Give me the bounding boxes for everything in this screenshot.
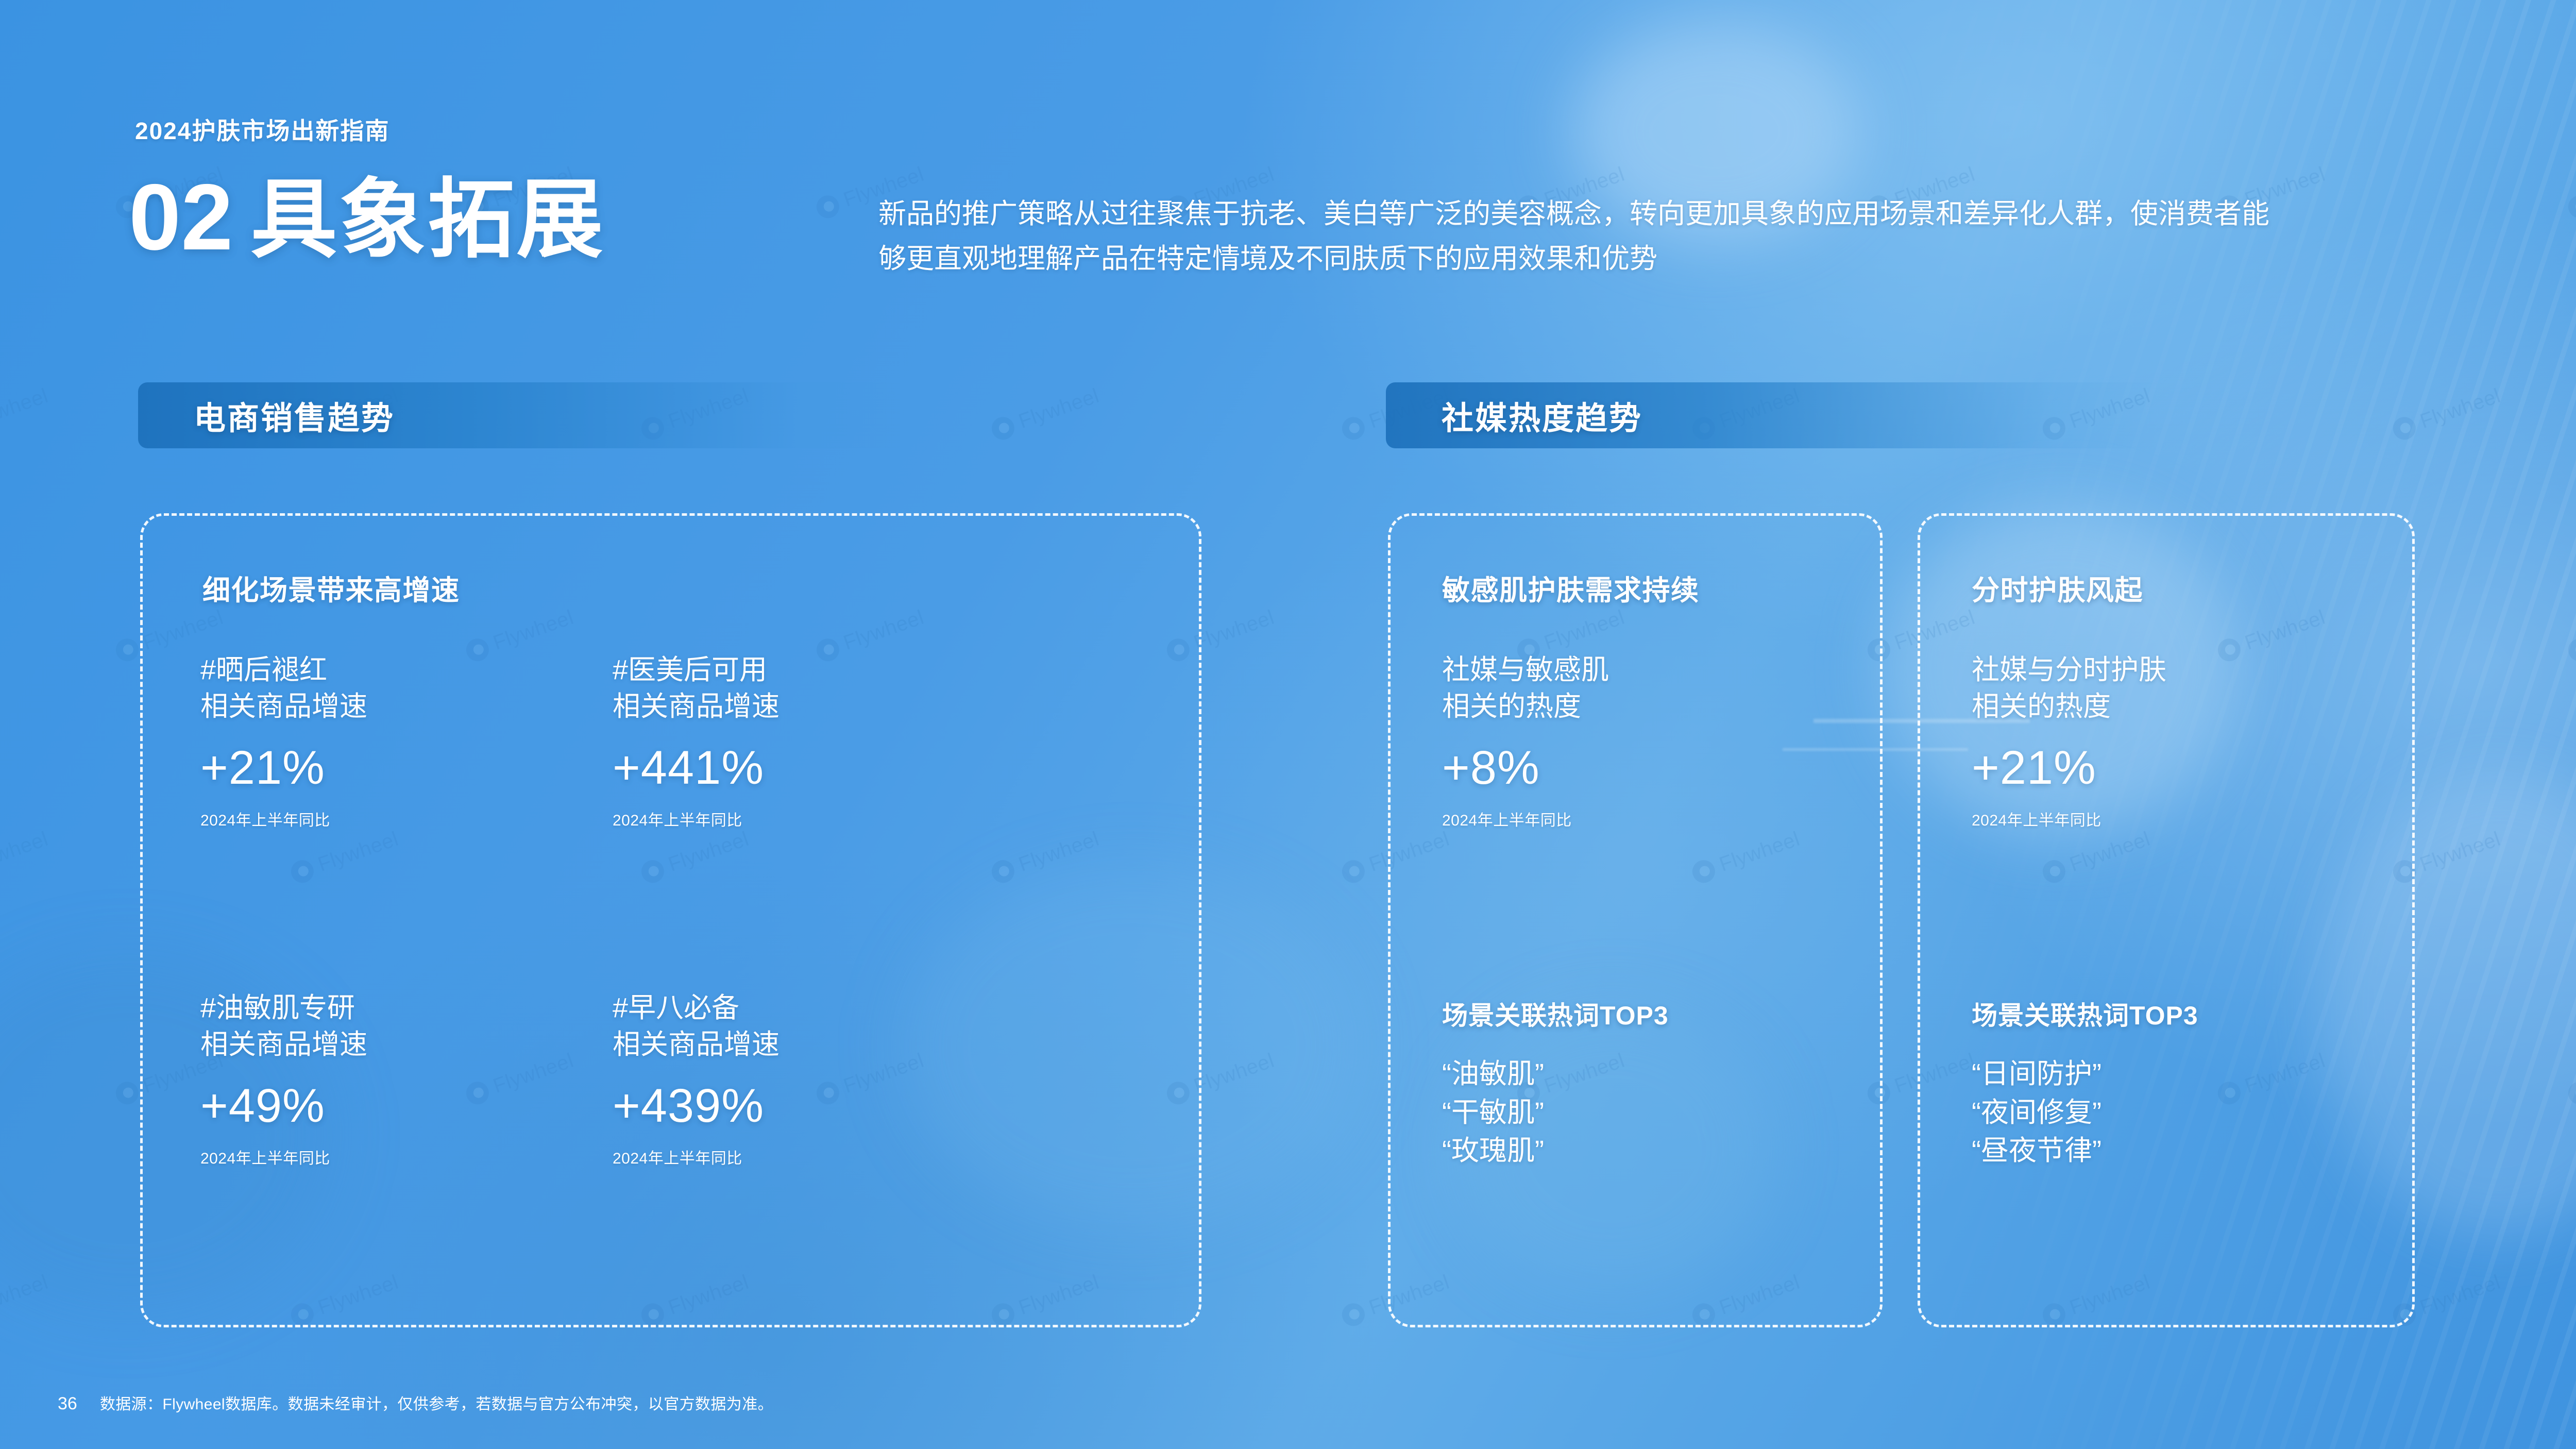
metric-value: +8% <box>1442 741 1609 795</box>
card-title: 细化场景带来高增速 <box>202 567 460 608</box>
metric-value: +439% <box>613 1079 779 1133</box>
metric-note: 2024年上半年同比 <box>200 807 367 830</box>
metric-label: #医美后可用 相关商品增速 <box>613 652 779 726</box>
page-footer: 36 数据源：Flywheel数据库。数据未经审计，仅供参考，若数据与官方公布冲… <box>58 1391 773 1414</box>
metric-value: +21% <box>1972 741 2166 795</box>
metric-value: +49% <box>200 1079 367 1133</box>
section-description: 新品的推广策略从过往聚焦于抗老、美白等广泛的美容概念，转向更加具象的应用场景和差… <box>878 192 2269 282</box>
metric-value: +21% <box>200 741 367 795</box>
metric-note: 2024年上半年同比 <box>1442 807 1609 830</box>
page-number: 36 <box>58 1394 77 1414</box>
social-trend-card-sensitive-skin: 敏感肌护肤需求持续 社媒与敏感肌 相关的热度 +8% 2024年上半年同比 场景… <box>1388 513 1883 1327</box>
keyword-list: “油敏肌” “干敏肌” “玫瑰肌” <box>1442 1055 1669 1170</box>
section-heading-social: 社媒热度趋势 <box>1386 382 2159 448</box>
keyword-item: “夜间修复” <box>1972 1093 2198 1132</box>
section-heading-ecommerce: 电商销售趋势 <box>138 382 906 448</box>
metric-block: #晒后褪红 相关商品增速 +21% 2024年上半年同比 <box>200 652 367 830</box>
keyword-block-title: 场景关联热词TOP3 <box>1972 995 2198 1032</box>
metric-block: #早八必备 相关商品增速 +439% 2024年上半年同比 <box>613 990 779 1168</box>
card-title: 分时护肤风起 <box>1972 567 2143 608</box>
keyword-item: “昼夜节律” <box>1972 1132 2198 1170</box>
card-title: 敏感肌护肤需求持续 <box>1442 567 1700 608</box>
keyword-block-title: 场景关联热词TOP3 <box>1442 995 1669 1032</box>
metric-label: 社媒与分时护肤 相关的热度 <box>1972 652 2166 726</box>
ecommerce-trend-card: 细化场景带来高增速 #晒后褪红 相关商品增速 +21% 2024年上半年同比 #… <box>140 513 1201 1327</box>
keyword-item: “玫瑰肌” <box>1442 1132 1669 1170</box>
keyword-list: “日间防护” “夜间修复” “昼夜节律” <box>1972 1055 2198 1170</box>
metric-block: 社媒与敏感肌 相关的热度 +8% 2024年上半年同比 <box>1442 652 1609 830</box>
keyword-item: “油敏肌” <box>1442 1055 1669 1093</box>
metric-label: #油敏肌专研 相关商品增速 <box>200 990 367 1064</box>
section-heading-label: 电商销售趋势 <box>138 392 395 439</box>
metric-block: 社媒与分时护肤 相关的热度 +21% 2024年上半年同比 <box>1972 652 2166 830</box>
metric-value: +441% <box>613 741 779 795</box>
metric-note: 2024年上半年同比 <box>613 807 779 830</box>
metric-label: #晒后褪红 相关商品增速 <box>200 652 367 726</box>
section-number: 02 <box>129 170 233 264</box>
keyword-block: 场景关联热词TOP3 “日间防护” “夜间修复” “昼夜节律” <box>1972 995 2198 1170</box>
metric-note: 2024年上半年同比 <box>1972 807 2166 830</box>
metric-label: 社媒与敏感肌 相关的热度 <box>1442 652 1609 726</box>
keyword-item: “干敏肌” <box>1442 1093 1669 1132</box>
metric-label: #早八必备 相关商品增速 <box>613 990 779 1064</box>
metric-note: 2024年上半年同比 <box>200 1145 367 1168</box>
social-trend-card-timed-skincare: 分时护肤风起 社媒与分时护肤 相关的热度 +21% 2024年上半年同比 场景关… <box>1918 513 2415 1327</box>
page-kicker: 2024护肤市场出新指南 <box>135 112 389 146</box>
metric-block: #医美后可用 相关商品增速 +441% 2024年上半年同比 <box>613 652 779 830</box>
metric-block: #油敏肌专研 相关商品增速 +49% 2024年上半年同比 <box>200 990 367 1168</box>
section-title: 具象拓展 <box>250 176 605 263</box>
metric-note: 2024年上半年同比 <box>613 1145 779 1168</box>
keyword-item: “日间防护” <box>1972 1055 2198 1093</box>
data-source-note: 数据源：Flywheel数据库。数据未经审计，仅供参考，若数据与官方公布冲突，以… <box>100 1391 773 1414</box>
section-heading-label: 社媒热度趋势 <box>1386 392 1642 439</box>
keyword-block: 场景关联热词TOP3 “油敏肌” “干敏肌” “玫瑰肌” <box>1442 995 1669 1170</box>
page-title: 02 具象拓展 <box>129 170 605 264</box>
